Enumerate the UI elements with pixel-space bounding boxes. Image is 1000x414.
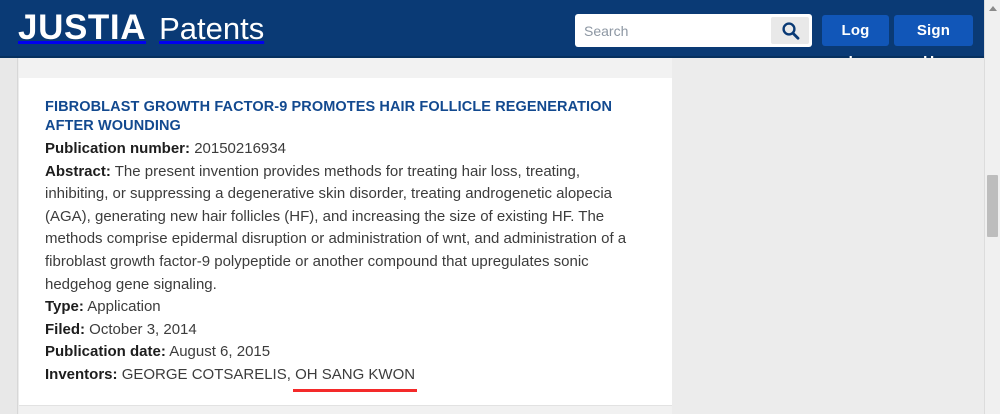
patent-result-card: FIBROBLAST GROWTH FACTOR-9 PROMOTES HAIR… xyxy=(19,58,672,405)
publication-date-value: August 6, 2015 xyxy=(169,343,270,360)
page-body: FIBROBLAST GROWTH FACTOR-9 PROMOTES HAIR… xyxy=(0,58,1000,414)
left-gutter xyxy=(0,58,18,414)
site-logo-justia-patents[interactable]: JUSTIA Patents xyxy=(18,9,264,48)
vertical-scrollbar[interactable] xyxy=(984,0,1000,414)
search-input[interactable] xyxy=(578,17,771,44)
search-icon xyxy=(781,21,800,40)
filed-value: October 3, 2014 xyxy=(89,321,197,338)
inventors-row: Inventors: GEORGE COTSARELIS, OH SANG KW… xyxy=(45,364,645,387)
chevron-up-icon xyxy=(989,6,997,11)
card-bottom-edge xyxy=(19,405,672,414)
site-header: JUSTIA Patents Log In Sign Up xyxy=(0,0,1000,58)
publication-date-row: Publication date: August 6, 2015 xyxy=(45,341,645,364)
patent-details: FIBROBLAST GROWTH FACTOR-9 PROMOTES HAIR… xyxy=(45,98,645,387)
abstract-text: The present invention provides methods f… xyxy=(45,163,626,293)
scrollbar-thumb[interactable] xyxy=(987,175,998,237)
patent-title-link[interactable]: FIBROBLAST GROWTH FACTOR-9 PROMOTES HAIR… xyxy=(45,98,641,136)
brand-name-patents: Patents xyxy=(159,10,264,48)
publication-number-row: Publication number: 20150216934 xyxy=(45,138,645,161)
type-row: Type: Application xyxy=(45,296,645,319)
card-top-strip xyxy=(19,58,672,78)
scrollbar-up-button[interactable] xyxy=(985,0,1000,16)
filed-row: Filed: October 3, 2014 xyxy=(45,319,645,342)
type-value: Application xyxy=(87,298,160,315)
publication-date-label: Publication date: xyxy=(45,343,166,360)
publication-number-label: Publication number: xyxy=(45,140,190,157)
inventor-name-highlighted: OH SANG KWON xyxy=(295,364,415,387)
publication-number-value: 20150216934 xyxy=(194,140,286,157)
filed-label: Filed: xyxy=(45,321,85,338)
inventor-name-primary: GEORGE COTSARELIS, xyxy=(122,366,291,383)
search-box xyxy=(575,14,812,47)
browser-page: JUSTIA Patents Log In Sign Up FIBROB xyxy=(0,0,1000,414)
brand-name-justia: JUSTIA xyxy=(18,9,146,47)
abstract-row: Abstract: The present invention provides… xyxy=(45,161,645,297)
type-label: Type: xyxy=(45,298,84,315)
inventors-label: Inventors: xyxy=(45,366,118,383)
login-button[interactable]: Log In xyxy=(822,15,889,46)
signup-button[interactable]: Sign Up xyxy=(894,15,973,46)
search-submit-button[interactable] xyxy=(771,17,809,44)
abstract-label: Abstract: xyxy=(45,163,111,180)
patent-meta-block: Publication number: 20150216934 Abstract… xyxy=(45,138,645,387)
